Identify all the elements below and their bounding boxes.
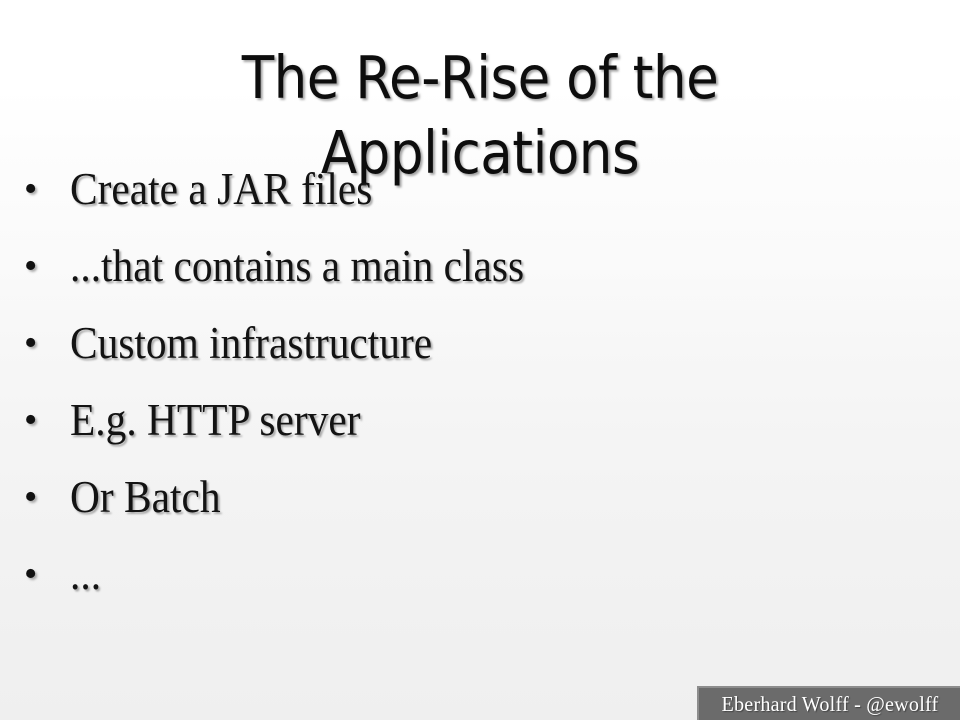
bullet-item-6: • ... bbox=[0, 535, 930, 612]
bullet-point-icon: • bbox=[24, 170, 70, 208]
bullet-item-4: • E.g. HTTP server bbox=[0, 381, 930, 458]
bullet-item-1: • Create a JAR files bbox=[0, 150, 930, 227]
bullet-list: • Create a JAR files • ...that contains … bbox=[0, 150, 930, 612]
bullet-item-2: • ...that contains a main class bbox=[0, 227, 930, 304]
speaker-credit-badge: Eberhard Wolff - @ewolff bbox=[697, 686, 960, 720]
bullet-item-label: ... bbox=[70, 548, 861, 600]
bullet-point-icon: • bbox=[24, 555, 70, 593]
bullet-point-icon: • bbox=[24, 247, 70, 285]
bullet-item-label: E.g. HTTP server bbox=[70, 394, 861, 446]
bullet-item-label: Or Batch bbox=[70, 471, 861, 523]
speaker-credit-label: Eberhard Wolff - @ewolff bbox=[721, 692, 938, 716]
bullet-item-label: Custom infrastructure bbox=[70, 317, 861, 369]
presentation-slide: The Re-Rise of the Applications • Create… bbox=[0, 0, 960, 720]
bullet-point-icon: • bbox=[24, 401, 70, 439]
bullet-point-icon: • bbox=[24, 478, 70, 516]
bullet-item-label: ...that contains a main class bbox=[70, 240, 861, 292]
bullet-item-5: • Or Batch bbox=[0, 458, 930, 535]
bullet-item-3: • Custom infrastructure bbox=[0, 304, 930, 381]
bullet-item-label: Create a JAR files bbox=[70, 163, 861, 215]
bullet-point-icon: • bbox=[24, 324, 70, 362]
